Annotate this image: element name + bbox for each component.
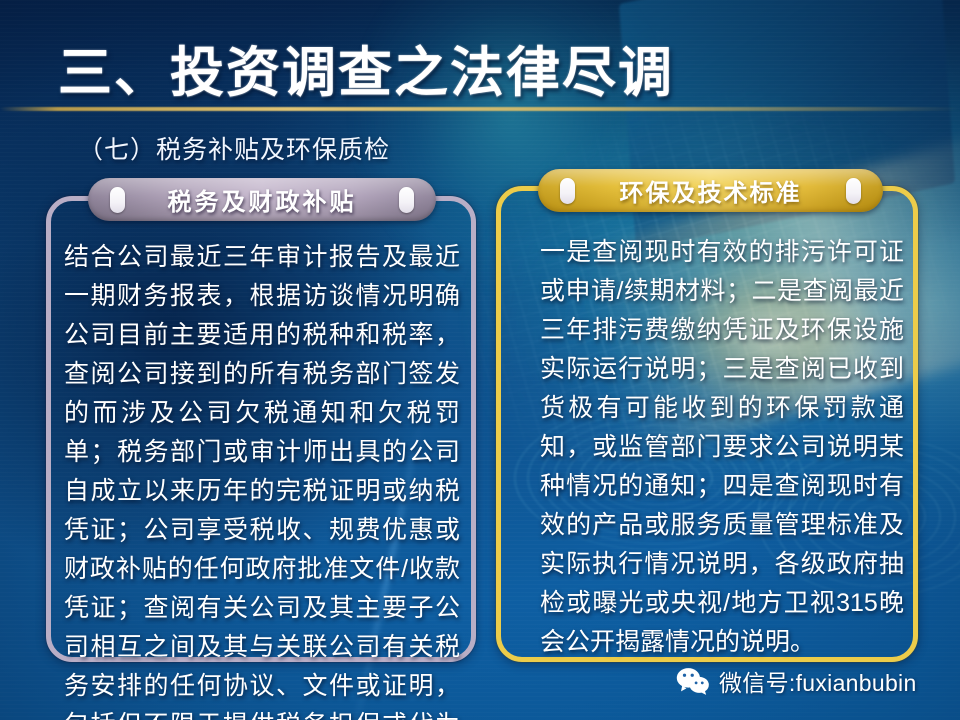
title-band: 三、投资调查之法律尽调 (0, 0, 960, 108)
presentation-slide: 三、投资调查之法律尽调 （七）税务补贴及环保质检 税务及财政补贴 结合公司最近三… (0, 0, 960, 720)
panel-left-header-label: 税务及财政补贴 (168, 182, 357, 217)
slide-subtitle: （七）税务补贴及环保质检 (78, 130, 390, 166)
watermark-text: 微信号:fuxianbubin (719, 664, 917, 698)
panel-right-header-label: 环保及技术标准 (620, 173, 802, 208)
banner-dot-right-icon (846, 178, 861, 204)
panel-left-body-text: 结合公司最近三年审计报告及最近一期财务报表，根据访谈情况明确公司目前主要适用的税… (64, 238, 460, 720)
banner-dot-right-icon (399, 187, 414, 213)
wechat-icon (676, 667, 710, 695)
panel-left-header-banner: 税务及财政补贴 (88, 178, 436, 221)
title-divider-rule (0, 107, 960, 111)
banner-dot-left-icon (560, 178, 575, 204)
panel-right-body-text: 一是查阅现时有效的排污许可证或申请/续期材料；二是查阅最近三年排污费缴纳凭证及环… (540, 233, 904, 662)
slide-title: 三、投资调查之法律尽调 (58, 28, 674, 107)
banner-dot-left-icon (110, 187, 125, 213)
watermark: 微信号:fuxianbubin (676, 664, 917, 698)
panel-right-header-banner: 环保及技术标准 (538, 169, 883, 212)
